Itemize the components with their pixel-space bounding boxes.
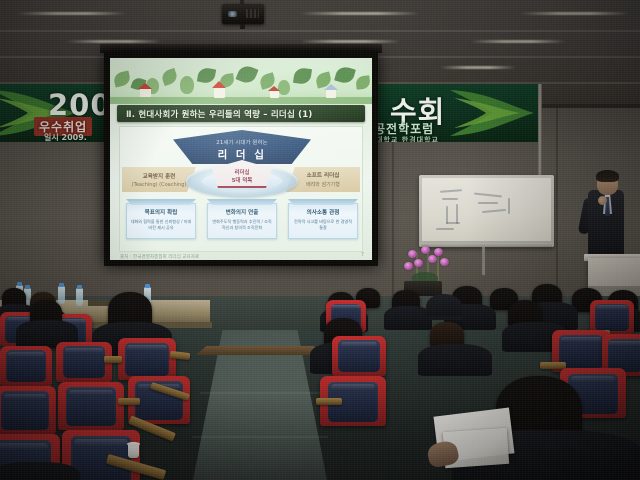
box-body: 변화주도적 행동력과 추진력 / 조직혁신과 창의적 조직문화 xyxy=(208,219,276,232)
tree-icon xyxy=(180,76,194,94)
seat-sheen xyxy=(4,394,46,400)
cap-brim-icon xyxy=(428,316,462,320)
diagram-center-core: 리더십 5대 덕목 xyxy=(212,160,272,188)
orchid-bloom xyxy=(408,250,417,258)
core-line-1: 리더십 xyxy=(235,168,250,176)
house-roof-icon xyxy=(324,84,338,90)
house-icon xyxy=(270,90,279,98)
water-bottle xyxy=(76,288,83,306)
right-panel-title: 소프트 리더십 xyxy=(307,171,340,179)
whiteboard-mark xyxy=(474,193,502,198)
diagram-box: 변화의지 연출 변화주도적 행동력과 추진력 / 조직혁신과 창의적 조직문화 xyxy=(207,203,277,239)
leaf-icon xyxy=(113,70,132,87)
coffee-cup xyxy=(128,444,139,458)
header-big-text: 리 더 십 xyxy=(218,147,267,162)
core-line-2: 5대 덕목 xyxy=(232,176,253,184)
auditorium-seat[interactable] xyxy=(332,336,386,376)
slide-body: 21세기 시대가 원하는 리 더 십 교육받지 훈련 (Teaching) (C… xyxy=(119,126,363,252)
house-icon xyxy=(140,88,151,97)
house-icon xyxy=(214,87,225,98)
orchid-bloom xyxy=(428,255,437,263)
box-body: 대화와 협력을 통한 신뢰형성 / 미래비전 제시 공유 xyxy=(127,219,195,232)
whiteboard-mark xyxy=(440,189,462,193)
auditorium-seat[interactable] xyxy=(58,382,124,430)
whiteboard-mark xyxy=(442,198,458,200)
auditorium-seat[interactable] xyxy=(590,300,634,334)
whiteboard xyxy=(422,178,551,241)
ceiling-light xyxy=(300,40,400,43)
diagram-box: 목표의지 확립 대화와 협력을 통한 신뢰형성 / 미래비전 제시 공유 xyxy=(126,203,196,239)
projector-vent-icon xyxy=(246,9,259,18)
whiteboard-mark xyxy=(508,198,510,214)
audience-shoulders xyxy=(418,344,492,376)
seat-armrest xyxy=(104,356,122,363)
aisle-step xyxy=(192,436,328,438)
banner-right-small: 대학교 한경대학교 xyxy=(376,135,439,142)
ceiling-light xyxy=(16,12,126,15)
leaf-icon xyxy=(355,75,370,89)
auditorium-seat[interactable] xyxy=(0,346,52,386)
seat-armrest xyxy=(540,362,566,369)
banner-swoosh-icon xyxy=(448,86,536,140)
box-title: 목표의지 확립 xyxy=(145,208,178,216)
house-roof-icon xyxy=(212,81,226,88)
slide-title: Ⅱ. 현대사회가 원하는 우리들의 역량 – 리더십 (1) xyxy=(117,108,312,120)
seat-sheen xyxy=(609,341,640,346)
cup-rim xyxy=(127,442,140,446)
seat-armrest xyxy=(316,398,342,405)
box-body: 전략적 사고를 바탕으로 한 경영적 통찰 xyxy=(289,219,357,232)
ceiling-seam xyxy=(0,30,640,32)
seat-sheen xyxy=(127,345,166,350)
ceiling-light xyxy=(520,12,630,15)
seat-sheen xyxy=(331,384,376,390)
house-roof-icon xyxy=(138,83,152,89)
whiteboard-leg xyxy=(482,247,485,275)
projector-lens-icon xyxy=(228,11,237,17)
seat-sheen xyxy=(571,376,616,382)
aisle-step xyxy=(200,392,320,394)
box-title: 변화의지 연출 xyxy=(226,208,259,216)
slide-footer: 출처 : 한국경영자총협회 리더십 교육자료 xyxy=(120,254,360,260)
seat-sheen xyxy=(0,443,48,450)
banner-date: 일시 2009. xyxy=(44,132,87,142)
ceiling-light xyxy=(300,12,420,15)
bottle-cap-icon xyxy=(59,283,64,287)
slide-page-number: 7 xyxy=(361,252,364,258)
ceiling-light xyxy=(66,40,162,43)
diagram-box: 의사소통 관점 전략적 사고를 바탕으로 한 경영적 통찰 xyxy=(288,203,358,239)
auditorium-seat[interactable] xyxy=(0,386,56,434)
deco-ground xyxy=(110,97,372,104)
bottle-cap-icon xyxy=(25,285,30,289)
house-icon xyxy=(326,89,336,98)
projector-stem xyxy=(240,24,245,29)
slide-header-decoration xyxy=(110,58,372,104)
house-roof-icon xyxy=(268,86,280,91)
aisle-threshold xyxy=(196,346,324,355)
diagram-left-panel: 교육받지 훈련 (Teaching) (Coaching) xyxy=(122,167,196,192)
water-bottle xyxy=(58,286,65,304)
seat-sheen xyxy=(65,348,103,353)
whiteboard-mark xyxy=(446,222,460,224)
audience-shoulders xyxy=(384,306,432,330)
seat-sheen xyxy=(341,342,378,347)
seat-sheen xyxy=(332,305,359,309)
bottle-cap-icon xyxy=(17,282,22,286)
projected-slide: Ⅱ. 현대사회가 원하는 우리들의 역량 – 리더십 (1) 21세기 시대가 … xyxy=(110,58,372,260)
leaf-icon xyxy=(160,68,179,86)
bottle-cap-icon xyxy=(145,284,150,288)
whiteboard-mark xyxy=(478,202,498,204)
whiteboard-mark xyxy=(482,209,506,213)
whiteboard-mark xyxy=(456,204,458,224)
event-banner-right: 수회 공전학포럼 대학교 한경대학교 xyxy=(356,84,538,142)
bottle-cap-icon xyxy=(77,285,82,289)
box-title: 의사소통 관점 xyxy=(307,208,340,216)
orchid-bloom xyxy=(421,246,430,254)
whiteboard-mark xyxy=(436,228,454,230)
ceiling-projector xyxy=(222,4,264,24)
ceiling-light xyxy=(470,40,566,43)
seat-armrest xyxy=(118,398,140,405)
seat-sheen xyxy=(74,439,127,446)
slide-title-bar: Ⅱ. 현대사회가 원하는 우리들의 역량 – 리더십 (1) xyxy=(117,105,365,122)
leaf-icon xyxy=(293,67,312,85)
seat-sheen xyxy=(69,390,114,396)
orchid-bloom xyxy=(440,258,449,266)
seat-sheen xyxy=(8,352,43,357)
leaf-icon xyxy=(235,63,258,86)
right-panel-subtitle: 배려와 섬기기형 xyxy=(306,181,340,188)
leaf-icon xyxy=(334,65,356,85)
orchid-bloom xyxy=(414,259,423,267)
audience-shoulders-foreground xyxy=(0,462,80,480)
orchid-bloom xyxy=(404,262,413,270)
leadership-header-banner: 21세기 시대가 원하는 리 더 십 xyxy=(173,130,311,164)
wall-joint xyxy=(556,108,558,298)
orchid-bloom xyxy=(434,248,443,256)
left-panel-subtitle: (Teaching) (Coaching) xyxy=(132,182,187,188)
lecture-hall-photo: 200 우수취업 일시 2009. 수회 공전학포럼 대학교 한경대학교 xyxy=(0,0,640,480)
left-panel-title: 교육받지 훈련 xyxy=(143,172,176,180)
ceiling-light xyxy=(440,66,516,69)
auditorium-seat[interactable] xyxy=(118,338,176,380)
seat-sheen xyxy=(597,305,627,309)
header-small-text: 21세기 시대가 원하는 xyxy=(216,138,268,146)
whiteboard-tray xyxy=(421,243,552,247)
seat-sheen xyxy=(561,337,600,342)
presenter-hand xyxy=(598,196,607,205)
presenter-hair xyxy=(596,170,619,182)
